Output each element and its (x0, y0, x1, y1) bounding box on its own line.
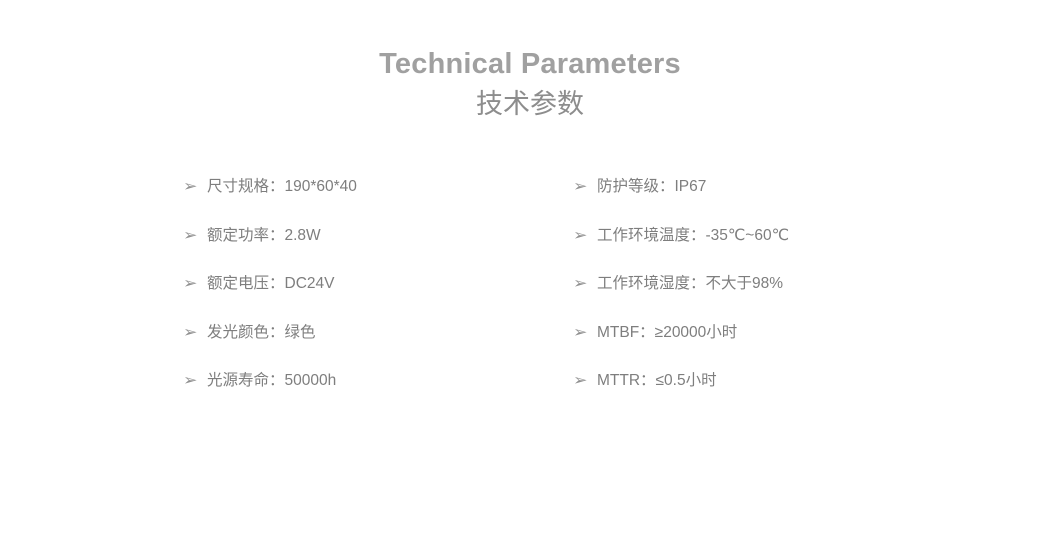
spec-item-light-color: ➢ 发光颜色：绿色 (183, 322, 563, 371)
arrow-bullet-icon: ➢ (183, 273, 211, 295)
spec-item-size: ➢ 尺寸规格：190*60*40 (183, 176, 563, 225)
spec-item-lifespan: ➢ 光源寿命：50000h (183, 370, 563, 419)
spec-item-label: 工作环境湿度：不大于98% (597, 273, 783, 295)
spec-column-right: ➢ 防护等级：IP67 ➢ 工作环境温度：-35℃~60℃ ➢ 工作环境湿度：不… (573, 176, 943, 419)
arrow-bullet-icon: ➢ (573, 322, 601, 344)
spec-item-label: 尺寸规格：190*60*40 (207, 176, 357, 198)
spec-column-left: ➢ 尺寸规格：190*60*40 ➢ 额定功率：2.8W ➢ 额定电压：DC24… (183, 176, 563, 419)
arrow-bullet-icon: ➢ (183, 225, 211, 247)
page-title-english: Technical Parameters (0, 46, 1060, 82)
arrow-bullet-icon: ➢ (183, 176, 211, 198)
spec-item-label: 发光颜色：绿色 (207, 322, 316, 344)
technical-parameters-page: Technical Parameters 技术参数 ➢ 尺寸规格：190*60*… (0, 0, 1060, 535)
arrow-bullet-icon: ➢ (183, 322, 211, 344)
arrow-bullet-icon: ➢ (183, 370, 211, 392)
arrow-bullet-icon: ➢ (573, 225, 601, 247)
spec-item-label: MTBF：≥20000小时 (597, 322, 737, 344)
arrow-bullet-icon: ➢ (573, 370, 601, 392)
spec-item-rated-voltage: ➢ 额定电压：DC24V (183, 273, 563, 322)
spec-item-working-temperature: ➢ 工作环境温度：-35℃~60℃ (573, 225, 943, 274)
arrow-bullet-icon: ➢ (573, 176, 601, 198)
spec-item-label: 工作环境温度：-35℃~60℃ (597, 225, 789, 247)
spec-item-rated-power: ➢ 额定功率：2.8W (183, 225, 563, 274)
spec-item-mttr: ➢ MTTR：≤0.5小时 (573, 370, 943, 419)
spec-item-ip-rating: ➢ 防护等级：IP67 (573, 176, 943, 225)
spec-item-label: 额定功率：2.8W (207, 225, 321, 247)
page-title-block: Technical Parameters 技术参数 (0, 46, 1060, 122)
spec-item-label: 光源寿命：50000h (207, 370, 336, 392)
spec-item-label: 额定电压：DC24V (207, 273, 334, 295)
spec-item-label: 防护等级：IP67 (597, 176, 706, 198)
spec-item-label: MTTR：≤0.5小时 (597, 370, 717, 392)
arrow-bullet-icon: ➢ (573, 273, 601, 295)
spec-item-mtbf: ➢ MTBF：≥20000小时 (573, 322, 943, 371)
page-title-chinese: 技术参数 (0, 86, 1060, 122)
spec-item-working-humidity: ➢ 工作环境湿度：不大于98% (573, 273, 943, 322)
